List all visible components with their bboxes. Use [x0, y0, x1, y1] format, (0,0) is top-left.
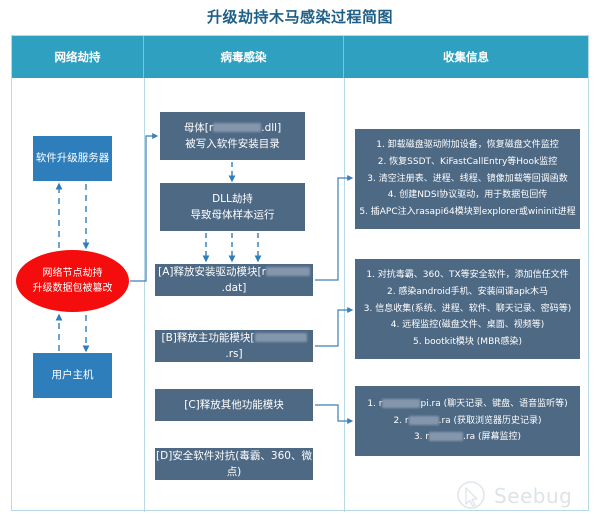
node-update-server[interactable]: 软件升级服务器 [33, 136, 112, 181]
node-module-a[interactable]: [A]释放安装驱动模块[r.dat] [155, 264, 313, 296]
info-3-prefix: 2. r [393, 416, 408, 426]
node-module-c-label: [C]释放其他功能模块 [184, 397, 284, 413]
info-2-line: 5. bootkit模块 (MBR感染) [413, 334, 522, 351]
node-module-b[interactable]: [B]释放主功能模块[.rs] [155, 330, 313, 362]
node-parent-body-line2: 被写入软件安装目录 [185, 136, 280, 152]
node-network-hijack-line1: 网络节点劫持 [43, 266, 103, 281]
column-header-collect-info: 收集信息 [344, 36, 588, 78]
parent-body-prefix: 母体[r [184, 122, 213, 134]
redacted-filename-mask [409, 416, 439, 425]
redacted-filename-mask [266, 267, 310, 276]
seebug-bug-cursor-logo-icon [455, 479, 489, 513]
node-info-box-1[interactable]: 1. 卸载磁盘驱动附加设备，恢复磁盘文件监控 2. 恢复SSDT、KiFastC… [355, 129, 580, 229]
node-module-a-label: [A]释放安装驱动模块[r.dat] [155, 264, 313, 297]
node-module-d[interactable]: [D]安全软件对抗(毒霸、360、微点) [155, 448, 313, 480]
node-network-hijack-line2: 升级数据包被篡改 [33, 281, 113, 296]
node-user-host-label: 用户主机 [52, 367, 94, 383]
redacted-filename-mask [429, 432, 463, 441]
node-module-d-label: [D]安全软件对抗(毒霸、360、微点) [155, 448, 313, 481]
info-1-line: 5. 插APC注入rasapi64模块到explorer或wininit进程 [359, 204, 575, 221]
module-b-prefix: [B]释放主功能模块[ [162, 332, 255, 344]
info-2-line: 2. 感染android手机、安装间谍apk木马 [387, 284, 548, 301]
node-dll-hijack-line1: DLL劫持 [212, 191, 253, 207]
info-1-line: 3. 清空注册表、进程、线程、镜像加载等回调函数 [367, 171, 567, 188]
page-title: 升级劫持木马感染过程简图 [0, 6, 600, 27]
parent-body-suffix: .dll] [261, 122, 281, 134]
watermark: Seebug [455, 477, 580, 515]
info-3-line: 3. r.ra (屏幕监控) [414, 429, 521, 446]
node-dll-hijack[interactable]: DLL劫持 导致母体样本运行 [160, 183, 305, 231]
node-module-b-label: [B]释放主功能模块[.rs] [155, 330, 313, 363]
node-user-host[interactable]: 用户主机 [33, 353, 112, 398]
watermark-text: Seebug [494, 484, 572, 508]
info-3-line: 1. rpi.ra (聊天记录、键盘、语音监听等) [367, 396, 567, 413]
column-header-virus-infection: 病毒感染 [144, 36, 344, 78]
node-info-box-3[interactable]: 1. rpi.ra (聊天记录、键盘、语音监听等) 2. r.ra (获取浏览器… [355, 386, 580, 456]
info-1-line: 4. 创建NDSI协议驱动，用于数据包回传 [388, 187, 547, 204]
info-2-line: 4. 远程监控(磁盘文件、桌面、视频等) [391, 317, 544, 334]
column-header-network-hijack: 网络劫持 [12, 36, 144, 78]
node-dll-hijack-line2: 导致母体样本运行 [191, 207, 275, 223]
info-1-line: 1. 卸载磁盘驱动附加设备，恢复磁盘文件监控 [376, 137, 558, 154]
redacted-filename-mask [382, 399, 420, 408]
redacted-filename-mask [255, 333, 307, 342]
module-b-suffix: .rs] [225, 348, 242, 360]
info-3-suffix: pi.ra (聊天记录、键盘、语音监听等) [420, 399, 567, 409]
info-2-line: 1. 对抗毒霸、360、TX等安全软件，添加信任文件 [366, 267, 568, 284]
column-header-row: 网络劫持 病毒感染 收集信息 [12, 36, 588, 78]
column-divider-2 [344, 78, 345, 512]
info-3-line: 2. r.ra (获取浏览器历史记录) [393, 413, 541, 430]
info-2-line: 3. 信息收集(系统、进程、软件、聊天记录、密码等) [364, 301, 571, 318]
node-parent-body[interactable]: 母体[r.dll] 被写入软件安装目录 [160, 112, 305, 160]
node-module-c[interactable]: [C]释放其他功能模块 [155, 389, 313, 421]
node-update-server-label: 软件升级服务器 [36, 150, 110, 166]
info-3-prefix: 3. r [414, 432, 429, 442]
node-parent-body-line1: 母体[r.dll] [184, 120, 281, 136]
module-a-prefix: [A]释放安装驱动模块[r [158, 266, 266, 278]
info-3-suffix: .ra (屏幕监控) [463, 432, 521, 442]
node-network-hijack[interactable]: 网络节点劫持 升级数据包被篡改 [16, 250, 129, 312]
info-3-suffix: .ra (获取浏览器历史记录) [439, 416, 542, 426]
module-a-suffix: .dat] [222, 282, 247, 294]
redacted-filename-mask [213, 123, 261, 132]
info-1-line: 2. 恢复SSDT、KiFastCallEntry等Hook监控 [378, 154, 558, 171]
column-divider-1 [144, 78, 145, 512]
node-info-box-2[interactable]: 1. 对抗毒霸、360、TX等安全软件，添加信任文件 2. 感染android手… [355, 259, 580, 359]
info-3-prefix: 1. r [367, 399, 382, 409]
